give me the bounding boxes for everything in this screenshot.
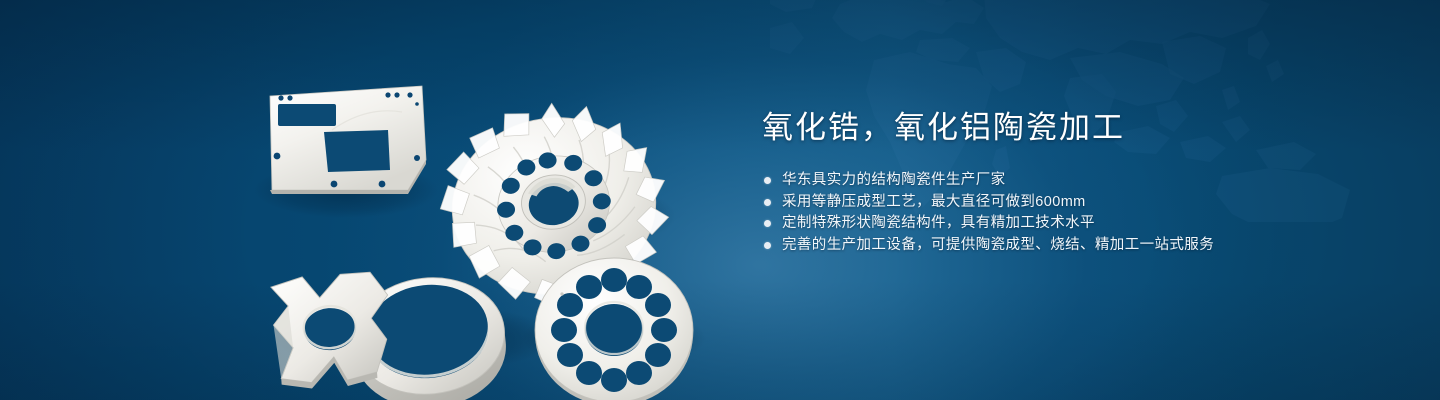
feature-text: 完善的生产加工设备，可提供陶瓷成型、烧结、精加工一站式服务: [782, 235, 1214, 257]
ceramic-products-image: [236, 38, 722, 390]
bullet-dot-icon: [764, 242, 771, 249]
ceramic-machined-plate: [270, 86, 426, 194]
feature-text: 华东具实力的结构陶瓷件生产厂家: [782, 170, 1006, 192]
ceramic-cross-plate: [270, 271, 394, 391]
feature-item: 华东具实力的结构陶瓷件生产厂家: [764, 170, 1362, 192]
feature-item: 采用等静压成型工艺，最大直径可做到600mm: [764, 192, 1362, 214]
bullet-dot-icon: [764, 177, 771, 184]
feature-list: 华东具实力的结构陶瓷件生产厂家 采用等静压成型工艺，最大直径可做到600mm 定…: [764, 170, 1362, 256]
hero-banner: 氧化锆，氧化铝陶瓷加工 华东具实力的结构陶瓷件生产厂家 采用等静压成型工艺，最大…: [0, 0, 1440, 400]
banner-copy: 氧化锆，氧化铝陶瓷加工 华东具实力的结构陶瓷件生产厂家 采用等静压成型工艺，最大…: [762, 108, 1362, 256]
feature-text: 定制特殊形状陶瓷结构件，具有精加工技术水平: [782, 213, 1095, 235]
feature-text: 采用等静压成型工艺，最大直径可做到600mm: [782, 192, 1086, 214]
bullet-dot-icon: [764, 220, 771, 227]
feature-item: 完善的生产加工设备，可提供陶瓷成型、烧结、精加工一站式服务: [764, 235, 1362, 257]
banner-headline: 氧化锆，氧化铝陶瓷加工: [762, 108, 1362, 148]
ceramic-perforated-disc: [535, 258, 693, 400]
feature-item: 定制特殊形状陶瓷结构件，具有精加工技术水平: [764, 213, 1362, 235]
bullet-dot-icon: [764, 199, 771, 206]
